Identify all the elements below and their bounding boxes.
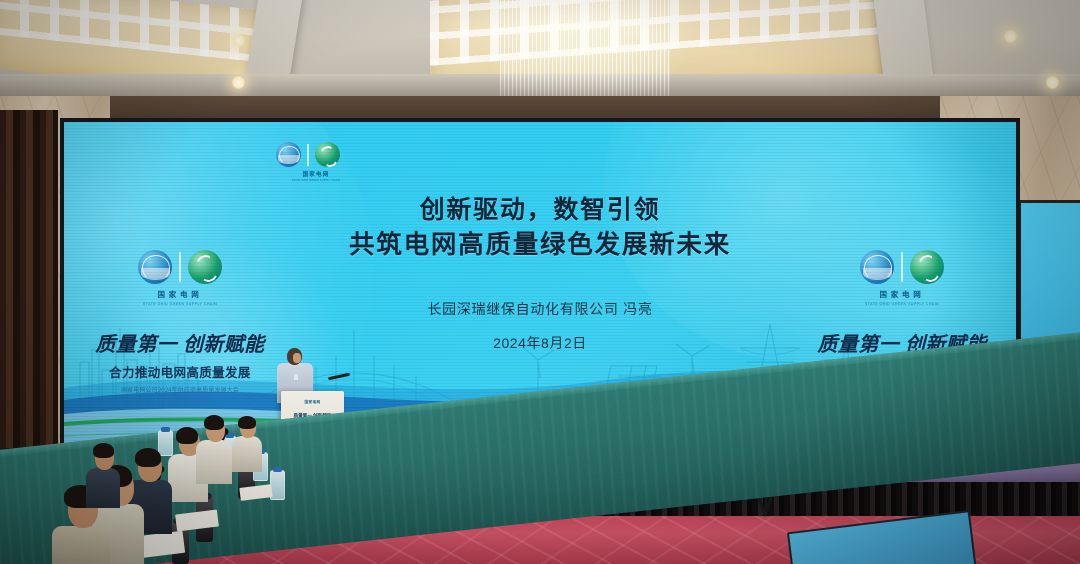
podium-brand-top: 国家电网: [281, 400, 344, 405]
attendee-body: [86, 468, 120, 508]
screen-top-logo: [276, 142, 340, 167]
banner-left-headline: 质量第一 创新赋能: [80, 328, 280, 357]
attendee-body: [196, 440, 232, 484]
lattice-pattern-icon: [0, 0, 260, 62]
banner-left-tiny: 国家电网公司2024年供应商高质量发展大会: [80, 385, 280, 394]
speaker-badge: [294, 374, 298, 380]
attendee-body: [52, 526, 110, 564]
logo-en-text: STATE GRID GREEN SUPPLY CHAIN: [270, 179, 362, 182]
banner-left-logo-cn: 国家电网: [80, 289, 280, 300]
speaker-face: [293, 353, 301, 363]
attendee-hair: [238, 416, 256, 429]
downlight-icon: [1046, 76, 1059, 89]
banner-left: 国家电网 STATE GRID GREEN SUPPLY CHAIN 质量第一 …: [80, 250, 280, 394]
banner-right-logo: [802, 250, 1002, 284]
state-grid-globe-icon: [138, 250, 172, 284]
attendee-hair: [135, 448, 161, 467]
downlight-icon: [232, 34, 245, 47]
banner-left-logo: [80, 250, 280, 284]
attendee: [86, 446, 120, 504]
attendee-hair: [204, 415, 224, 430]
logo-cn-text: 国家电网: [270, 170, 362, 178]
crystal-chandelier-icon: [500, 0, 670, 96]
attendee: [196, 418, 232, 480]
green-supply-chain-s-icon: [910, 250, 944, 284]
logo-divider: [901, 252, 903, 282]
banner-right-logo-en: STATE GRID GREEN SUPPLY CHAIN: [802, 302, 1002, 306]
banner-left-logo-en: STATE GRID GREEN SUPPLY CHAIN: [80, 302, 280, 306]
banner-right-logo-cn: 国家电网: [802, 289, 1002, 300]
bottle-cap: [273, 467, 282, 472]
green-supply-chain-s-icon: [188, 250, 222, 284]
logo-divider: [179, 252, 181, 282]
logo-divider: [307, 144, 309, 166]
screen-title-line1: 创新驱动，数智引领: [64, 194, 1016, 228]
banner-left-subline: 合力推动电网高质量发展: [80, 362, 280, 381]
attendee-body: [232, 436, 262, 472]
attendee: [232, 418, 262, 468]
attendee-hair: [93, 443, 114, 458]
green-supply-chain-s-icon: [315, 142, 340, 167]
ceiling: [0, 0, 1080, 96]
state-grid-globe-icon: [860, 250, 894, 284]
screen-top-logo-text: 国家电网 STATE GRID GREEN SUPPLY CHAIN: [270, 170, 362, 182]
state-grid-globe-icon: [276, 142, 301, 167]
downlight-icon: [232, 76, 245, 89]
attendee-hair: [176, 427, 198, 444]
downlight-icon: [1004, 30, 1017, 43]
conference-hall-photo: 国家电网 STATE GRID GREEN SUPPLY CHAIN: [0, 0, 1080, 564]
